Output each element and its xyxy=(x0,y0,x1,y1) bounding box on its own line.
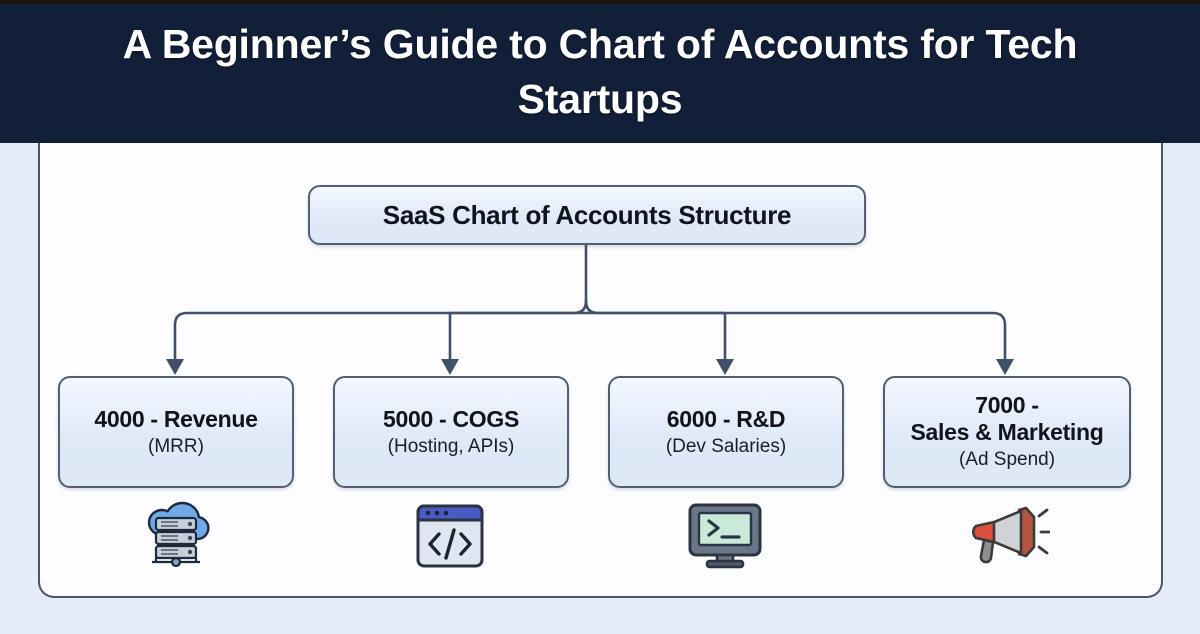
megaphone-icon xyxy=(952,498,1062,573)
account-node-cogs[interactable]: 5000 - COGS (Hosting, APIs) xyxy=(333,376,569,488)
terminal-monitor-icon xyxy=(670,498,780,573)
account-node-revenue[interactable]: 4000 - Revenue (MRR) xyxy=(58,376,294,488)
account-node-sales-marketing[interactable]: 7000 - Sales & Marketing (Ad Spend) xyxy=(883,376,1131,488)
screenshot-root: A Beginner’s Guide to Chart of Accounts … xyxy=(0,0,1200,634)
account-node-title-line2: Sales & Marketing xyxy=(910,419,1103,446)
account-node-title: 7000 - xyxy=(975,392,1038,419)
root-node[interactable]: SaaS Chart of Accounts Structure xyxy=(308,185,866,245)
account-node-title: 4000 - Revenue xyxy=(94,406,257,433)
account-node-subtitle: (MRR) xyxy=(148,436,204,459)
page-title: A Beginner’s Guide to Chart of Accounts … xyxy=(70,17,1130,126)
account-node-subtitle: (Hosting, APIs) xyxy=(388,436,515,459)
account-node-title: 5000 - COGS xyxy=(383,406,519,433)
account-node-subtitle: (Dev Salaries) xyxy=(666,436,786,459)
account-node-subtitle: (Ad Spend) xyxy=(959,449,1055,472)
account-node-rnd[interactable]: 6000 - R&D (Dev Salaries) xyxy=(608,376,844,488)
code-window-icon xyxy=(395,498,505,573)
cloud-server-icon xyxy=(121,498,231,573)
page-body: SaaS Chart of Accounts Structure 4000 - … xyxy=(0,143,1200,634)
page-header-banner: A Beginner’s Guide to Chart of Accounts … xyxy=(0,0,1200,143)
root-node-label: SaaS Chart of Accounts Structure xyxy=(383,200,791,231)
account-node-title: 6000 - R&D xyxy=(667,406,785,433)
